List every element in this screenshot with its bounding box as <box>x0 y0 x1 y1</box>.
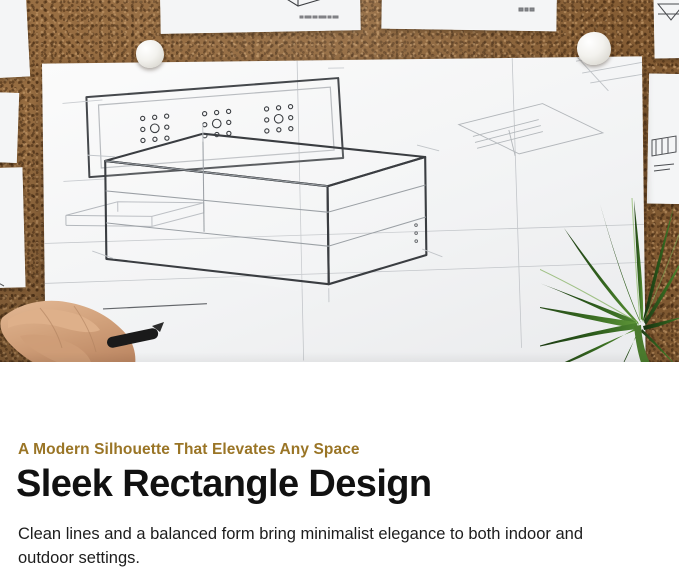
paper-ball-pin-right <box>577 32 611 65</box>
pinned-sheet-right-upper-sketch <box>654 0 679 58</box>
body-copy: Clean lines and a balanced form bring mi… <box>18 522 618 571</box>
pinned-sheet-left-lower-sketch <box>0 168 26 288</box>
top-right-furniture-sketch <box>382 0 557 30</box>
page-title: Sleek Rectangle Design <box>16 462 432 507</box>
pinned-sheet-left-middle <box>0 91 19 163</box>
hand-holding-pencil <box>0 276 220 362</box>
paper-bottom-shadow <box>0 352 679 362</box>
secondary-sketch-upper-right <box>459 103 604 157</box>
secondary-sketch-far-right <box>570 56 643 91</box>
product-feature-page: A Modern Silhouette That Elevates Any Sp… <box>0 0 679 576</box>
hero-image <box>0 0 679 362</box>
top-center-furniture-sketch <box>160 0 360 32</box>
hero-photo <box>0 0 679 362</box>
pinned-sheet-right-lower-sketch <box>648 74 679 204</box>
eyebrow-text: A Modern Silhouette That Elevates Any Sp… <box>18 441 360 460</box>
paper-ball-pin-left <box>136 40 164 68</box>
pinned-sheet-top-left-sketch <box>0 0 28 78</box>
